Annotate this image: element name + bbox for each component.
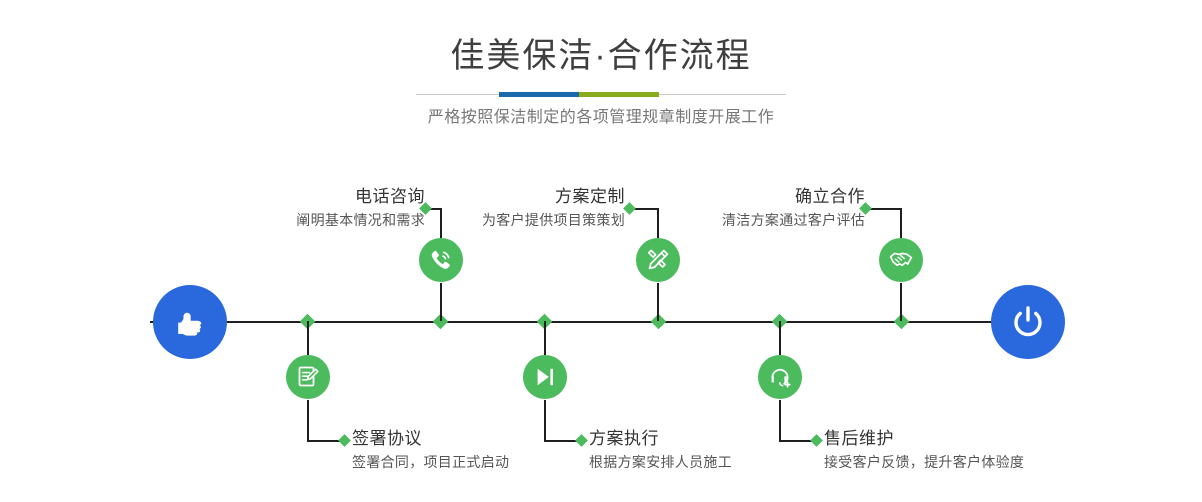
- connector-stem-step-3: [657, 283, 659, 321]
- step-icon-2[interactable]: [286, 355, 330, 399]
- step-label-2: 签署协议 签署合同，项目正式启动: [352, 428, 509, 472]
- step-desc-4: 根据方案安排人员施工: [589, 452, 732, 472]
- step-icon-6[interactable]: [758, 355, 802, 399]
- connector-stem-step-1: [440, 283, 442, 321]
- play-next-icon: [532, 364, 558, 390]
- flowchart-page: 佳美保洁·合作流程 严格按照保洁制定的各项管理规章制度开展工作: [0, 0, 1202, 502]
- phone-call-icon: [428, 247, 454, 273]
- handshake-icon: [888, 247, 914, 273]
- step-icon-5[interactable]: [879, 238, 923, 282]
- timeline-start-node[interactable]: [153, 285, 227, 359]
- step-title-2: 签署协议: [352, 428, 509, 450]
- connector-tip-step-4: [575, 434, 588, 447]
- step-title-6: 售后维护: [824, 428, 1024, 450]
- step-desc-6: 接受客户反馈，提升客户体验度: [824, 452, 1024, 472]
- headset-support-icon: [767, 364, 793, 390]
- connector-vertical-step-5: [900, 208, 902, 238]
- step-title-5: 确立合作: [440, 186, 865, 208]
- document-edit-icon: [295, 364, 321, 390]
- connector-vertical-step-2: [307, 400, 309, 441]
- connector-tip-step-2: [338, 434, 351, 447]
- step-desc-5: 清洁方案通过客户评估: [440, 210, 865, 230]
- process-timeline: 电话咨询 阐明基本情况和需求 签署协议 签署合同，项目正式启动: [0, 0, 1202, 502]
- step-desc-2: 签署合同，项目正式启动: [352, 452, 509, 472]
- step-label-6: 售后维护 接受客户反馈，提升客户体验度: [824, 428, 1024, 472]
- pointing-hand-icon: [170, 302, 210, 342]
- connector-stem-step-5: [900, 283, 902, 321]
- pencil-ruler-icon: [645, 247, 671, 273]
- step-title-4: 方案执行: [589, 428, 732, 450]
- step-icon-1[interactable]: [419, 238, 463, 282]
- step-icon-3[interactable]: [636, 238, 680, 282]
- connector-vertical-step-4: [544, 400, 546, 441]
- connector-tip-step-6: [810, 434, 823, 447]
- step-label-4: 方案执行 根据方案安排人员施工: [589, 428, 732, 472]
- step-label-5: 确立合作 清洁方案通过客户评估: [440, 186, 865, 230]
- connector-stem-step-4: [544, 321, 546, 355]
- connector-vertical-step-6: [779, 400, 781, 441]
- timeline-end-node[interactable]: [991, 285, 1065, 359]
- connector-stem-step-6: [779, 321, 781, 355]
- connector-stem-step-2: [307, 321, 309, 355]
- power-icon: [1007, 301, 1049, 343]
- timeline-axis: [150, 321, 1050, 323]
- step-icon-4[interactable]: [523, 355, 567, 399]
